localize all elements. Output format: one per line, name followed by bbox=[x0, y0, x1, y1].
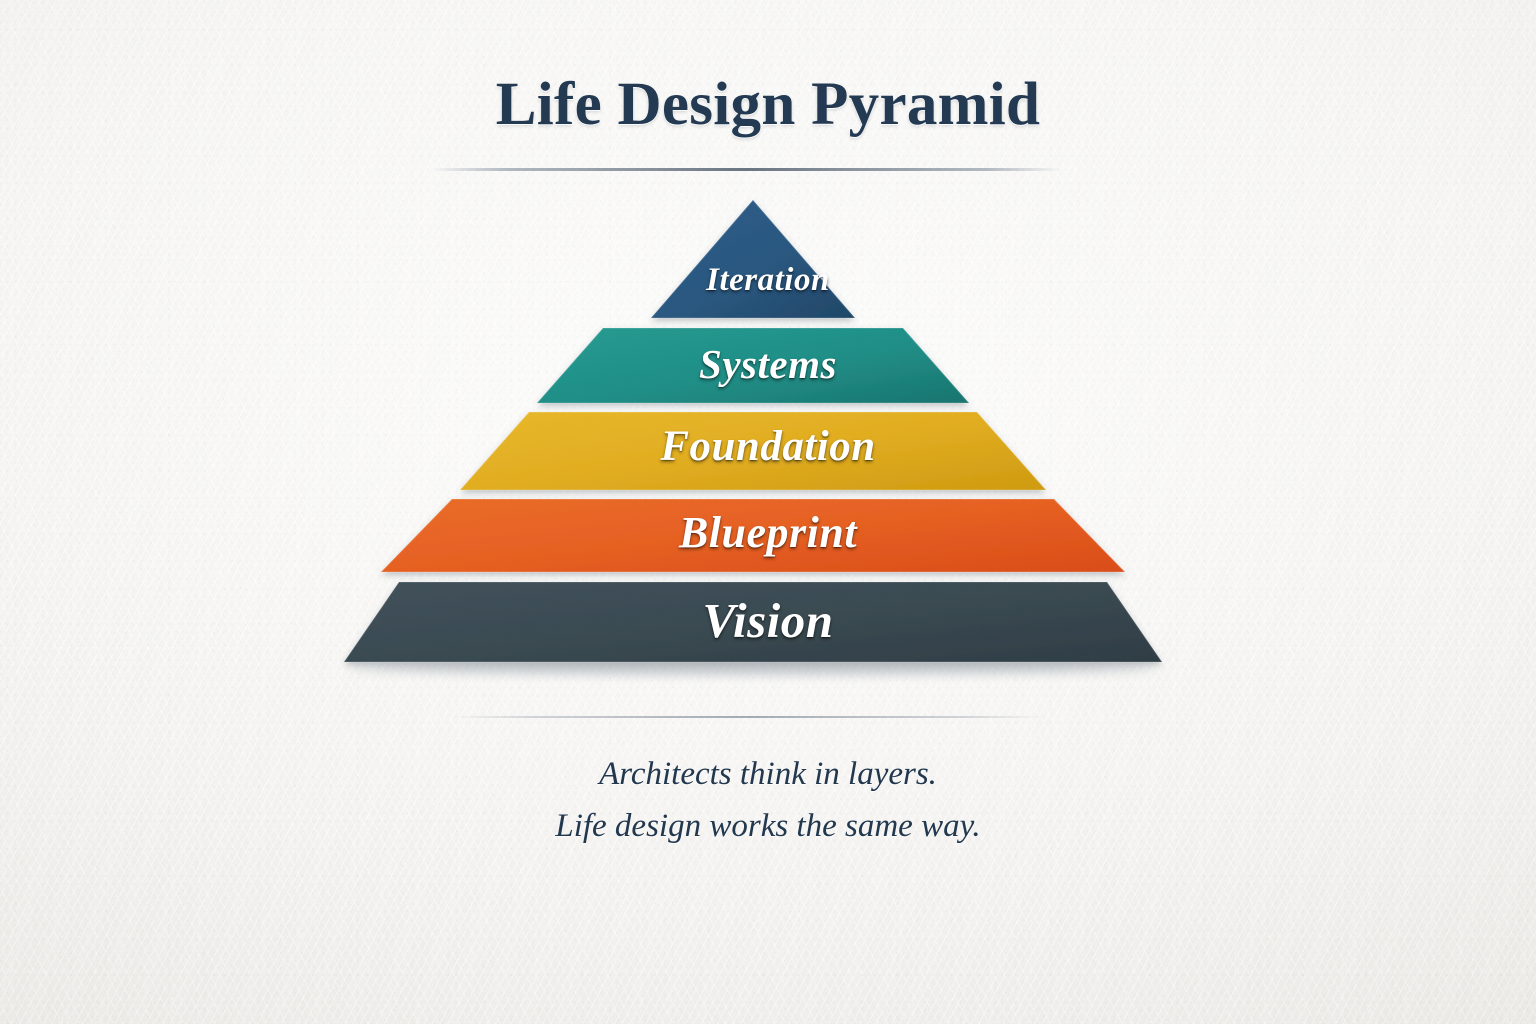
poster-stage: Life Design Pyramid bbox=[0, 0, 1536, 1024]
caption-line-1: Architects think in layers. bbox=[0, 748, 1536, 800]
pyramid-svg bbox=[0, 0, 1536, 1024]
pyramid-layer-vision-grain bbox=[344, 582, 1162, 662]
pyramid-layer-iteration[interactable] bbox=[651, 200, 855, 318]
pyramid-layer-vision[interactable] bbox=[344, 582, 1162, 662]
pyramid-diagram: Iteration Systems Foundation Blueprint V… bbox=[0, 0, 1536, 1024]
pyramid-layer-foundation[interactable] bbox=[460, 412, 1046, 490]
caption-divider bbox=[450, 716, 1046, 718]
pyramid-layer-iteration-grain bbox=[651, 200, 855, 318]
caption-block: Architects think in layers. Life design … bbox=[0, 748, 1536, 852]
caption-line-2: Life design works the same way. bbox=[0, 800, 1536, 852]
pyramid-layer-foundation-grain bbox=[460, 412, 1046, 490]
pyramid-layer-systems[interactable] bbox=[537, 328, 969, 403]
pyramid-layer-blueprint-grain bbox=[381, 499, 1125, 572]
pyramid-layer-blueprint[interactable] bbox=[381, 499, 1125, 572]
pyramid-ground-shadow bbox=[349, 661, 1157, 675]
pyramid-layer-systems-grain bbox=[537, 328, 969, 403]
